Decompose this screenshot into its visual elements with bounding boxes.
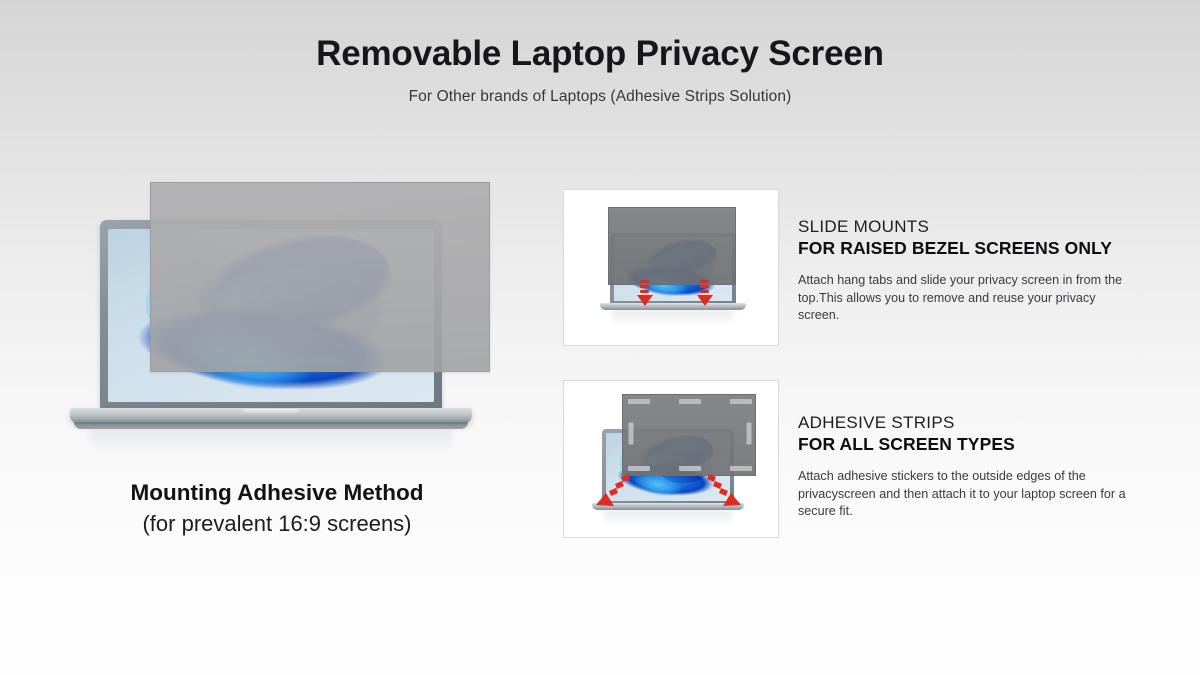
feature-heading: FOR RAISED BEZEL SCREENS ONLY (798, 238, 1128, 260)
feature-text-slide-mounts: SLIDE MOUNTS FOR RAISED BEZEL SCREENS ON… (798, 216, 1128, 324)
hero-caption-title: Mounting Adhesive Method (62, 480, 492, 506)
hero-illustration (62, 168, 492, 468)
feature-text-adhesive-strips: ADHESIVE STRIPS FOR ALL SCREEN TYPES Att… (798, 412, 1128, 520)
feature-kicker: ADHESIVE STRIPS (798, 412, 1128, 433)
page-title: Removable Laptop Privacy Screen (0, 34, 1200, 74)
privacy-film-overlay (608, 207, 736, 285)
feature-kicker: SLIDE MOUNTS (798, 216, 1128, 237)
feature-heading: FOR ALL SCREEN TYPES (798, 434, 1128, 456)
slide-direction-arrow-icon (700, 280, 709, 306)
adhesive-strips-laptop-thumbnail (564, 381, 778, 537)
feature-body: Attach adhesive stickers to the outside … (798, 468, 1128, 520)
thumb-laptop-reflection (612, 310, 734, 326)
attach-direction-arrows-icon (564, 381, 778, 537)
slide-mount-laptop-thumbnail (564, 190, 778, 345)
hero-caption-subtitle: (for prevalent 16:9 screens) (62, 511, 492, 537)
infographic-page: Removable Laptop Privacy Screen For Othe… (0, 0, 1200, 675)
privacy-film-overlay (150, 182, 490, 372)
feature-thumbnail-card-adhesive-strips (563, 380, 779, 538)
page-subtitle: For Other brands of Laptops (Adhesive St… (0, 88, 1200, 106)
laptop-foot (74, 422, 468, 429)
feature-body: Attach hang tabs and slide your privacy … (798, 272, 1128, 324)
laptop-reflection (90, 429, 452, 453)
slide-direction-arrow-icon (640, 280, 649, 306)
thumb-laptop-base (600, 303, 746, 310)
feature-thumbnail-card-slide-mounts (563, 189, 779, 346)
